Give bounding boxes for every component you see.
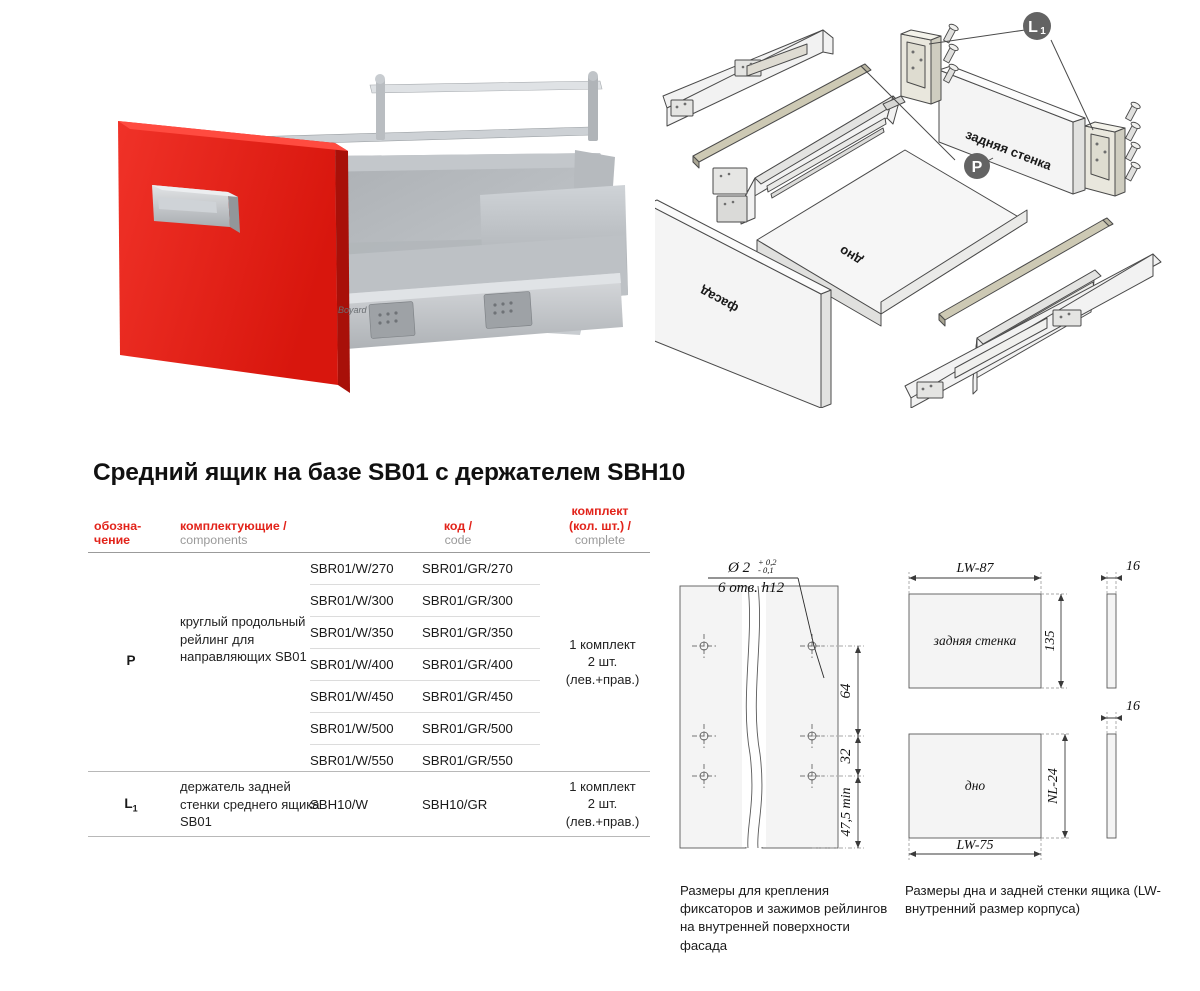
code-white: SBH10/W [310, 797, 422, 812]
svg-text:P: P [972, 159, 983, 176]
row-symbol: P [88, 653, 174, 668]
drawer-product-photo: Boyard [80, 45, 640, 400]
dim-back-wall-height: 135 [1043, 631, 1058, 652]
row-description: держатель задней стенки среднего ящика S… [180, 778, 330, 831]
complete-line: 2 шт. [540, 653, 665, 670]
code-white: SBR01/W/500 [310, 721, 422, 736]
panel-dimensions-diagram: задняя стенка LW-87 135 16 дно NL-24 [895, 548, 1195, 866]
svg-text:L: L [1028, 19, 1038, 36]
code-white: SBR01/W/300 [310, 593, 422, 608]
code-white: SBR01/W/550 [310, 753, 422, 768]
column-header-code: код / code [388, 519, 528, 548]
row-complete: 1 комплект 2 шт. (лев.+прав.) [540, 636, 665, 688]
caption-facade-drilling: Размеры для крепления фиксаторов и зажим… [680, 882, 890, 955]
dim-label-47-5-min: 47,5 min [839, 788, 854, 837]
code-subrows: SBH10/W SBH10/GR [310, 772, 540, 836]
code-grey: SBR01/GR/270 [422, 561, 540, 576]
caption-panel-dimensions: Размеры дна и задней стенки ящика (LW-вн… [905, 882, 1195, 918]
table-header-row: обозна- чение комплектующие / components… [88, 498, 650, 553]
code-white: SBR01/W/270 [310, 561, 422, 576]
code-white: SBR01/W/400 [310, 657, 422, 672]
code-grey: SBR01/GR/450 [422, 689, 540, 704]
row-symbol-subscript: 1 [133, 804, 138, 814]
code-white: SBR01/W/450 [310, 689, 422, 704]
table-row: P круглый продольный рейлинг для направл… [88, 553, 650, 772]
panel-label-bottom: дно [965, 778, 986, 793]
callout-diameter: Ø 2 [727, 560, 751, 576]
complete-line: (лев.+прав.) [540, 671, 665, 688]
panel-label-back-wall: задняя стенка [933, 633, 1017, 648]
table-row: L1 держатель задней стенки среднего ящик… [88, 772, 650, 837]
code-subrows: SBR01/W/270 SBR01/GR/270 SBR01/W/300 SBR… [310, 553, 540, 776]
code-grey: SBH10/GR [422, 797, 540, 812]
code-grey: SBR01/GR/350 [422, 625, 540, 640]
row-symbol-letter: L [124, 796, 132, 811]
complete-line: 1 комплект [540, 778, 665, 795]
dim-bottom-height: NL-24 [1046, 768, 1061, 805]
facade-drilling-diagram: 64 32 47,5 min Ø 2 + 0,2 - 0,1 6 отв. h1… [662, 548, 894, 866]
code-subrow: SBR01/W/450 SBR01/GR/450 [310, 681, 540, 713]
callout-hole-count: 6 отв. h12 [718, 580, 785, 596]
complete-line: 1 комплект [540, 636, 665, 653]
column-header-complete: комплект (кол. шт.) / complete [540, 504, 660, 548]
svg-text:Boyard: Boyard [338, 305, 368, 315]
row-symbol: L1 [88, 796, 174, 814]
column-header-designation: обозна- чение [94, 519, 178, 548]
dim-bottom-width: LW-75 [955, 838, 993, 853]
callout-bubble-L1: L 1 [1023, 12, 1051, 40]
complete-line: (лев.+прав.) [540, 813, 665, 830]
row-complete: 1 комплект 2 шт. (лев.+прав.) [540, 778, 665, 830]
callout-bubble-P: P [964, 153, 990, 179]
dim-label-64: 64 [838, 683, 854, 699]
dim-back-wall-thickness: 16 [1126, 559, 1140, 574]
code-subrow: SBR01/W/350 SBR01/GR/350 [310, 617, 540, 649]
dim-label-32: 32 [838, 748, 854, 765]
code-grey: SBR01/GR/500 [422, 721, 540, 736]
code-subrow: SBR01/W/500 SBR01/GR/500 [310, 713, 540, 745]
code-white: SBR01/W/350 [310, 625, 422, 640]
code-grey: SBR01/GR/550 [422, 753, 540, 768]
code-grey: SBR01/GR/400 [422, 657, 540, 672]
code-subrow: SBR01/W/300 SBR01/GR/300 [310, 585, 540, 617]
dim-bottom-thickness: 16 [1126, 699, 1140, 714]
dim-back-wall-width: LW-87 [955, 561, 994, 576]
page-title: Средний ящик на базе SB01 с держателем S… [93, 459, 685, 487]
column-header-components: комплектующие / components [180, 519, 320, 548]
row-description: круглый продольный рейлинг для направляю… [180, 613, 330, 666]
complete-line: 2 шт. [540, 795, 665, 812]
code-subrow: SBR01/W/400 SBR01/GR/400 [310, 649, 540, 681]
code-subrow: SBR01/W/270 SBR01/GR/270 [310, 553, 540, 585]
svg-text:1: 1 [1040, 26, 1046, 37]
code-grey: SBR01/GR/300 [422, 593, 540, 608]
components-table: обозна- чение комплектующие / components… [88, 498, 650, 837]
callout-tolerance-lower: - 0,1 [758, 565, 774, 575]
exploded-assembly-diagram: задняя стенка дно фасад L 1 P [655, 8, 1200, 408]
